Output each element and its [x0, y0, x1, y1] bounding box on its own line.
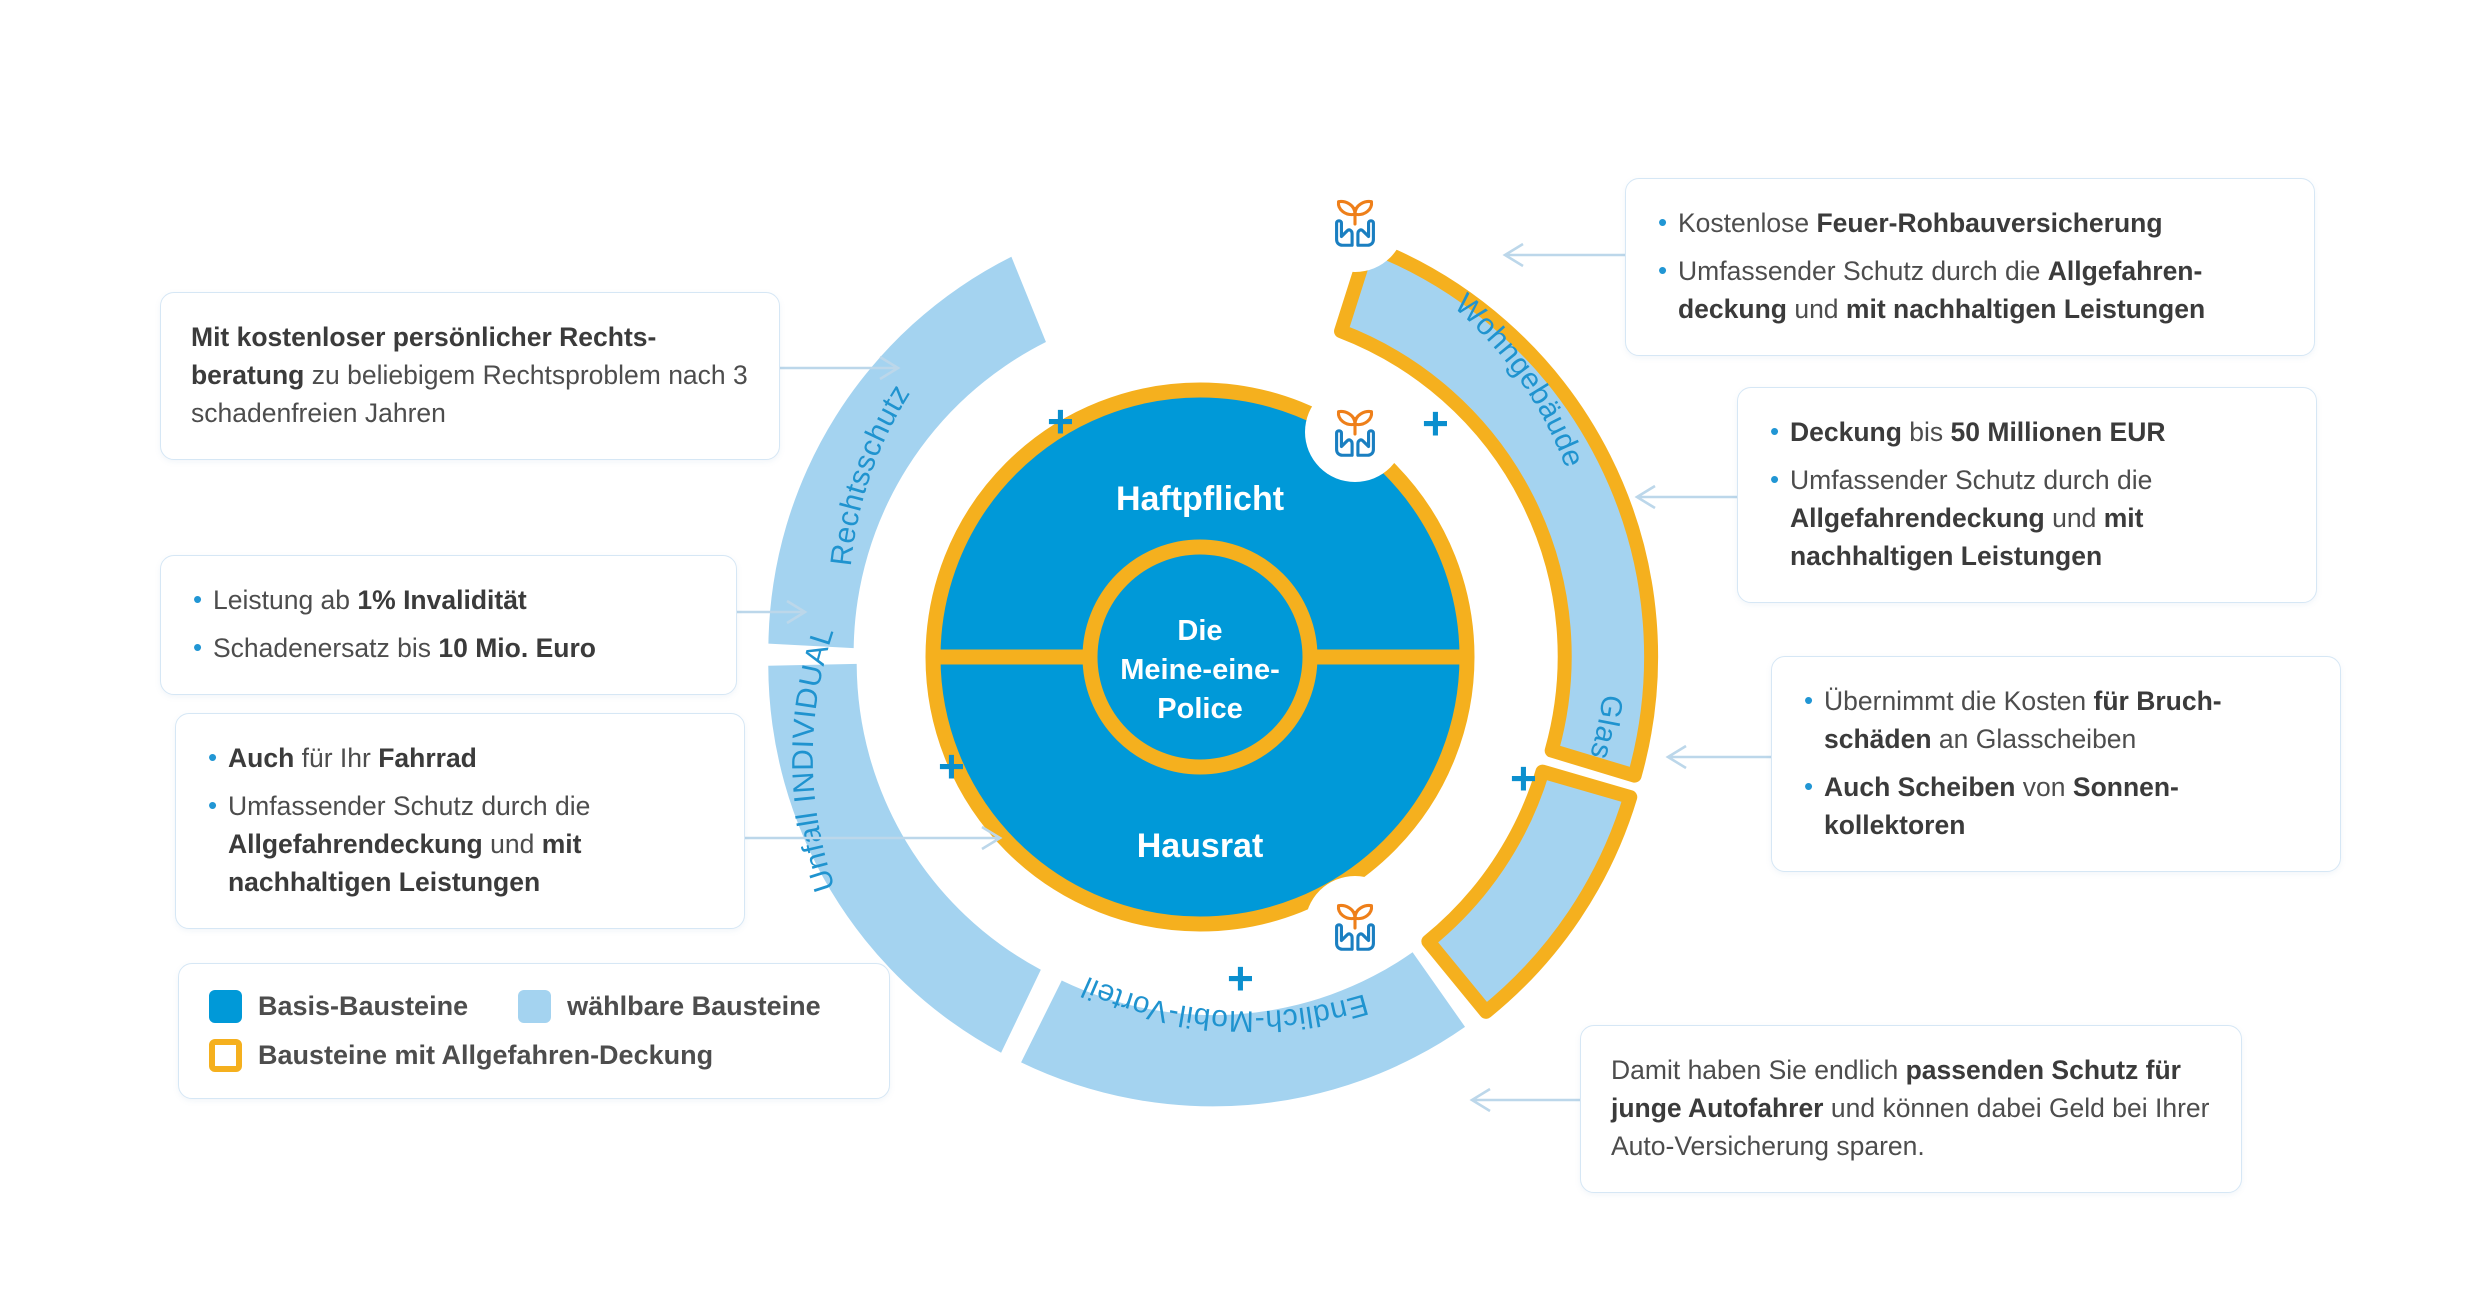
arrow-endlich-mobil — [1472, 1089, 1580, 1111]
connector-arrows — [737, 244, 1771, 1111]
callout-text: Mit kostenloser persönlicher Rechts-bera… — [191, 319, 749, 433]
outer-label-glas: Glas — [1583, 693, 1629, 763]
inner-disc-basis — [926, 383, 1474, 931]
arrow-haftpflicht — [1637, 486, 1737, 508]
hands-holding-plant-icon — [1309, 880, 1401, 972]
outer-segment-glas[interactable] — [1428, 772, 1630, 1012]
callout-list-item: Deckung bis 50 Millionen EUR — [1768, 414, 2286, 452]
callout-unfall[interactable]: Leistung ab 1% InvaliditätSchadenersatz … — [160, 555, 737, 695]
legend-swatch-optional — [518, 990, 551, 1023]
allgefahren-outline-wohngebaeude — [1341, 245, 1651, 775]
hands-holding-plant-icon — [1309, 176, 1401, 268]
callout-hausrat-fahrrad[interactable]: Auch für Ihr FahrradUmfassender Schutz d… — [175, 713, 745, 929]
inner-label-hausrat: Hausrat — [1137, 827, 1264, 865]
core-label-line1: Die — [1177, 615, 1222, 647]
callout-rechtsschutz[interactable]: Mit kostenloser persönlicher Rechts-bera… — [160, 292, 780, 460]
legend-item-optional: wählbare Bausteine — [518, 990, 821, 1023]
callout-list: Auch für Ihr FahrradUmfassender Schutz d… — [206, 740, 714, 902]
plus-marker-4: + — [1227, 955, 1254, 1001]
legend-box: Basis-Bausteine wählbare Bausteine Baust… — [178, 963, 890, 1099]
callout-list: Übernimmt die Kosten für Bruch-schäden a… — [1802, 683, 2310, 845]
callout-list: Leistung ab 1% InvaliditätSchadenersatz … — [191, 582, 706, 668]
callout-list-item: Kostenlose Feuer-Rohbauversicherung — [1656, 205, 2284, 243]
core-label-line2: Meine-eine- — [1120, 654, 1280, 686]
callout-list-item: Übernimmt die Kosten für Bruch-schäden a… — [1802, 683, 2310, 759]
callout-list-item: Umfassender Schutz durch die Allgefahren… — [1768, 462, 2286, 576]
plus-marker-5: + — [938, 743, 965, 789]
arrow-fahrrad — [745, 827, 1000, 849]
outer-segment-wohngebaeude[interactable] — [1341, 245, 1651, 775]
callout-wohngebaeude[interactable]: Kostenlose Feuer-RohbauversicherungUmfas… — [1625, 178, 2315, 356]
allgefahren-outline-glas — [1428, 772, 1630, 1012]
legend-label-basis: Basis-Bausteine — [258, 991, 468, 1022]
outer-label-endlich-mobil: Endlich-Mobil-Vorteil — [1077, 970, 1372, 1038]
legend-item-basis: Basis-Bausteine — [209, 990, 468, 1023]
callout-list-item: Umfassender Schutz durch die Allgefahren… — [206, 788, 714, 902]
hands-holding-plant-icon — [1309, 386, 1401, 478]
callout-list-item: Auch für Ihr Fahrrad — [206, 740, 714, 778]
callout-list-item: Umfassender Schutz durch die Allgefahren… — [1656, 253, 2284, 329]
legend-row: Bausteine mit Allgefahren-Deckung — [209, 1039, 859, 1072]
allgefahren-outline-inner-disc — [933, 390, 1467, 924]
callout-list: Kostenlose Feuer-RohbauversicherungUmfas… — [1656, 205, 2284, 329]
legend-swatch-allgefahren — [209, 1039, 242, 1072]
plus-marker-1: + — [1047, 398, 1074, 444]
plus-marker-3: + — [1510, 755, 1537, 801]
outer-label-wohngebaeude: Wohngebäude — [1448, 287, 1590, 471]
legend-row: Basis-Bausteine wählbare Bausteine — [209, 990, 859, 1023]
arrow-wohngebaeude — [1505, 244, 1625, 266]
inner-gap-ring — [890, 347, 1510, 967]
outer-segment-rechtsschutz-shape[interactable] — [768, 257, 1046, 648]
callout-list-item: Auch Scheiben von Sonnen-kollektoren — [1802, 769, 2310, 845]
legend-item-allgefahren: Bausteine mit Allgefahren-Deckung — [209, 1039, 713, 1072]
inner-label-haftpflicht: Haftpflicht — [1116, 480, 1284, 518]
callout-glas[interactable]: Übernimmt die Kosten für Bruch-schäden a… — [1771, 656, 2341, 872]
core-circle — [1090, 547, 1310, 767]
legend-label-optional: wählbare Bausteine — [567, 991, 821, 1022]
legend-label-allgefahren: Bausteine mit Allgefahren-Deckung — [258, 1040, 713, 1071]
callout-list-item: Leistung ab 1% Invalidität — [191, 582, 706, 620]
arrow-rechtsschutz — [780, 357, 898, 379]
callout-list-item: Schadenersatz bis 10 Mio. Euro — [191, 630, 706, 668]
callout-list: Deckung bis 50 Millionen EURUmfassender … — [1768, 414, 2286, 576]
arrow-glas — [1668, 746, 1771, 768]
arrow-unfall — [737, 601, 805, 623]
core-label-line3: Police — [1157, 693, 1242, 725]
outer-label-unfall-individual: Unfall INDIVIDUAL — [787, 623, 842, 896]
callout-endlich-mobil[interactable]: Damit haben Sie endlich passenden Schutz… — [1580, 1025, 2242, 1193]
outer-ring-group — [768, 245, 1651, 1199]
legend-swatch-basis — [209, 990, 242, 1023]
outer-label-rechtsschutz: Rechtsschutz — [825, 379, 917, 568]
callout-text: Damit haben Sie endlich passenden Schutz… — [1611, 1052, 2211, 1166]
plus-marker-2: + — [1422, 400, 1449, 446]
callout-haftpflicht[interactable]: Deckung bis 50 Millionen EURUmfassender … — [1737, 387, 2317, 603]
